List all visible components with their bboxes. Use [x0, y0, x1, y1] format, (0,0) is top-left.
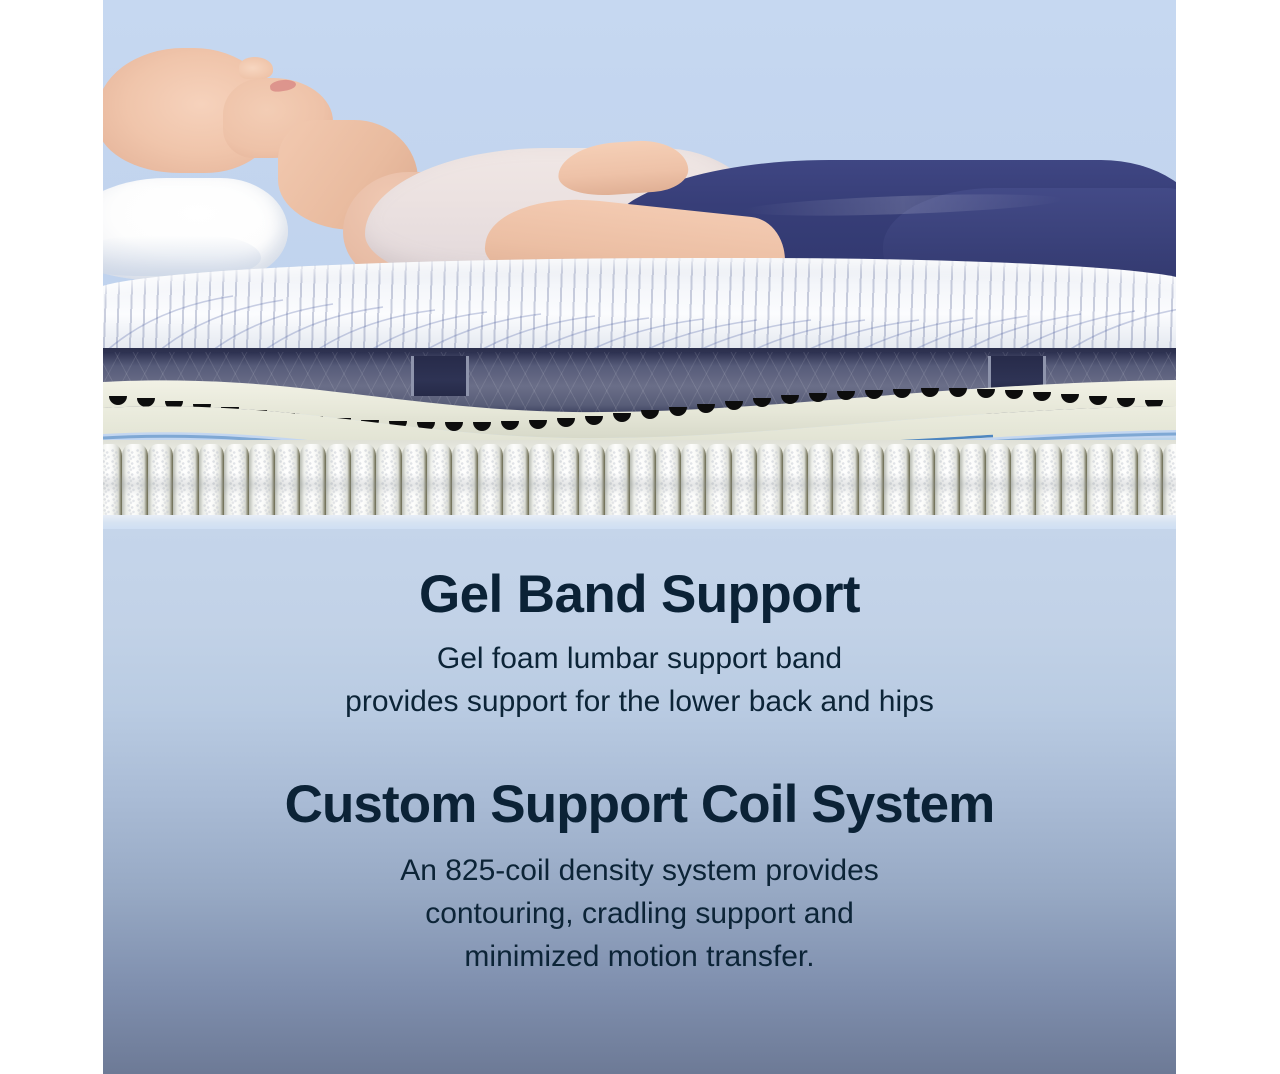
page-root: Gel Band Support Gel foam lumbar support…	[0, 0, 1280, 1074]
gel-band-support-heading: Gel Band Support	[103, 529, 1176, 622]
person-nose	[239, 57, 273, 79]
feature-panel: Gel Band Support Gel foam lumbar support…	[103, 0, 1176, 1074]
gel-band-support-description: Gel foam lumbar support band provides su…	[103, 622, 1176, 723]
description-line: An 825-coil density system provides	[103, 850, 1176, 893]
description-line: Gel foam lumbar support band	[103, 638, 1176, 681]
custom-support-coil-system-heading: Custom Support Coil System	[103, 723, 1176, 832]
custom-support-coil-system-description: An 825-coil density system provides cont…	[103, 832, 1176, 978]
description-line: minimized motion transfer.	[103, 936, 1176, 979]
description-line: contouring, cradling support and	[103, 893, 1176, 936]
description-line: provides support for the lower back and …	[103, 681, 1176, 724]
mattress-hero-photo	[103, 0, 1176, 529]
photo-bottom-strip	[103, 515, 1176, 529]
feature-text-content: Gel Band Support Gel foam lumbar support…	[103, 529, 1176, 1074]
